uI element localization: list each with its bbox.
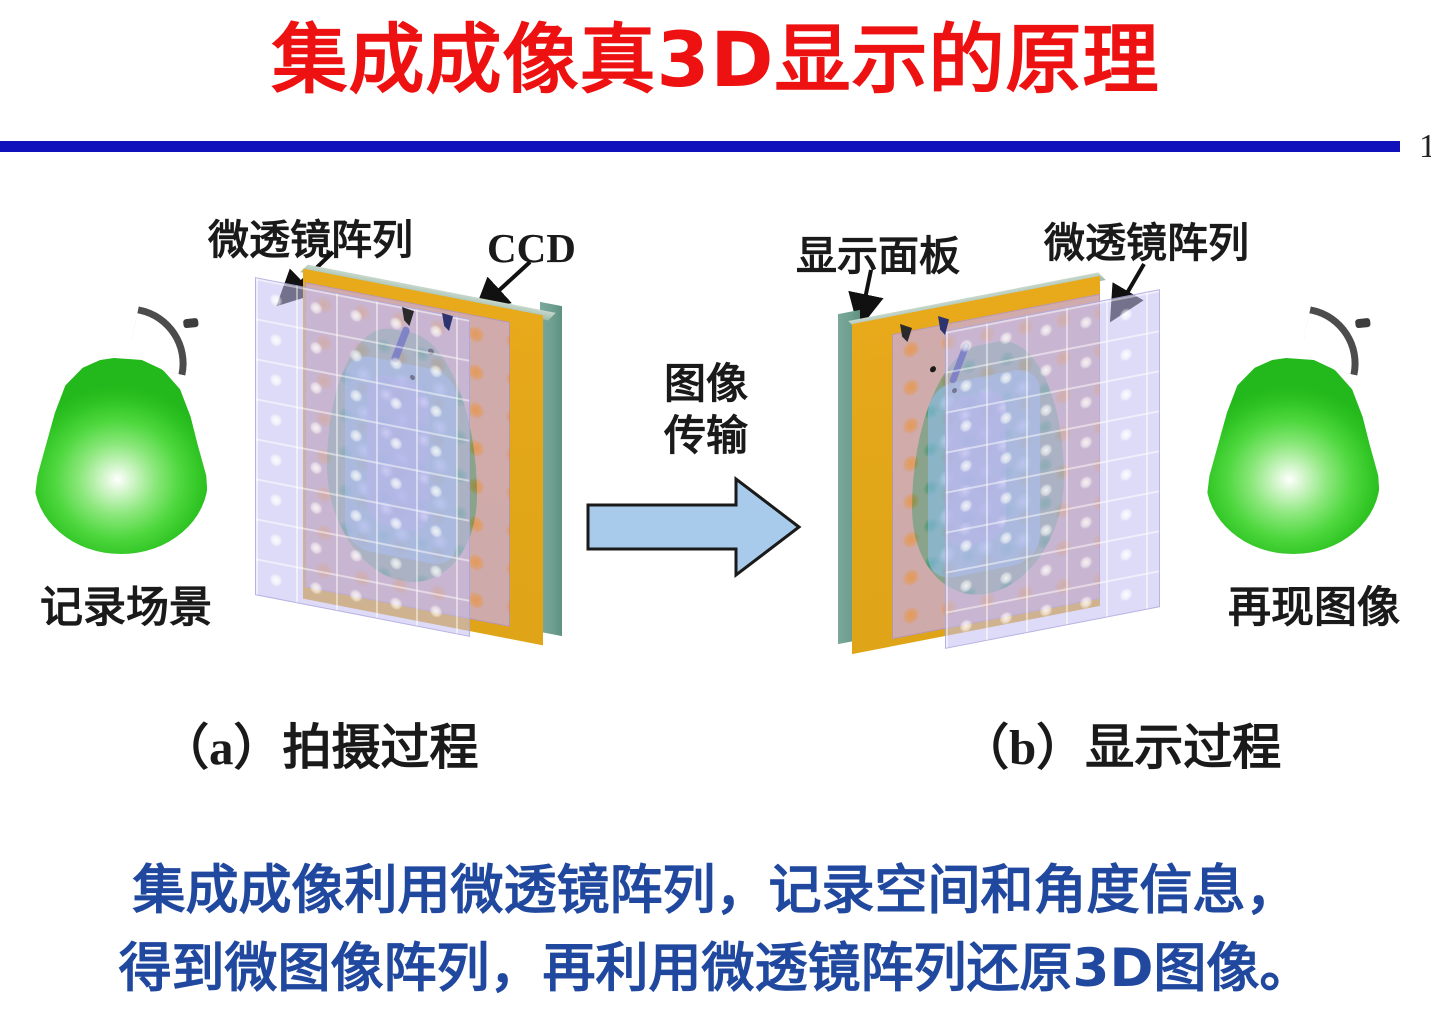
summary-paragraph: 集成成像利用微透镜阵列，记录空间和角度信息， 得到微图像阵列，再利用微透镜阵列还…	[0, 852, 1431, 1008]
transfer-label-line2: 传输	[651, 402, 761, 463]
pear-icon-right	[1200, 306, 1386, 554]
summary-line-2: 得到微图像阵列，再利用微透镜阵列还原3D图像。	[0, 930, 1431, 1008]
title-divider-rule	[0, 141, 1400, 152]
pear-icon-left	[28, 306, 214, 554]
caption-a: （a）拍摄过程	[160, 708, 479, 779]
micro-lens-array-plate-left	[255, 277, 470, 637]
image-transfer-arrow	[586, 475, 802, 579]
ccd-panel-edge	[540, 302, 562, 636]
caption-b: （b）显示过程	[960, 708, 1281, 779]
page-number: 1	[1419, 128, 1431, 166]
micro-lens-array-plate-right	[945, 289, 1160, 649]
capture-assembly	[250, 280, 590, 700]
page-title: 集成成像真3D显示的原理	[0, 18, 1431, 102]
eia-mark-a-right	[930, 366, 936, 373]
summary-line-1: 集成成像利用微透镜阵列，记录空间和角度信息，	[0, 852, 1431, 930]
pear-body-left	[34, 358, 208, 554]
reconstructed-image-label: 再现图像	[1228, 573, 1400, 635]
display-assembly	[830, 290, 1170, 710]
pear-body-right	[1206, 358, 1380, 554]
lens-array-label-right: 微透镜阵列	[1044, 209, 1249, 269]
recording-scene-label: 记录场景	[40, 573, 212, 635]
